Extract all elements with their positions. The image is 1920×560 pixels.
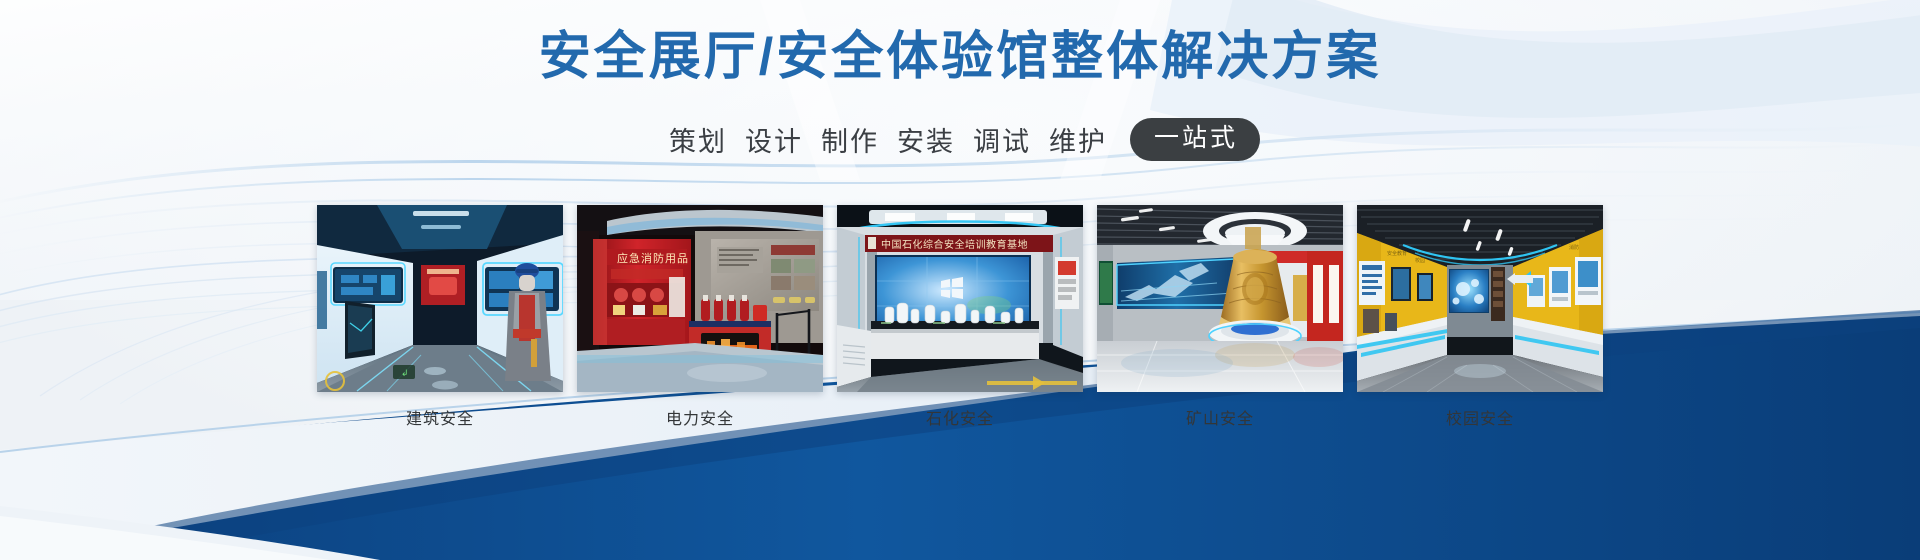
gallery-card-construction[interactable]: ↲ 建筑安全 (317, 205, 563, 429)
red-fire-equipment-image: 应急消防用品 (577, 205, 823, 392)
thumbnail-construction[interactable]: ↲ (317, 205, 563, 392)
subtitle-row: 策划 设计 制作 安装 调试 维护 一站式 (660, 118, 1260, 161)
page-title: 安全展厅/安全体验馆整体解决方案 (539, 26, 1381, 88)
subtitle-word-production: 制作 (812, 120, 888, 159)
one-stop-badge: 一站式 (1130, 118, 1260, 161)
gallery-card-petrochemical[interactable]: 中国石化综合安全培训教育基地 (837, 205, 1083, 429)
blue-corridor-image: ↲ (317, 205, 563, 392)
caption-campus: 校园安全 (1357, 405, 1603, 429)
svg-text:应急消防用品: 应急消防用品 (617, 251, 689, 265)
petrochemical-base-image: 中国石化综合安全培训教育基地 (837, 205, 1083, 392)
thumbnail-campus[interactable]: 安全教育校园 消防 (1357, 205, 1603, 392)
subtitle-word-design: 设计 (736, 120, 812, 159)
subtitle-word-planning: 策划 (660, 120, 736, 159)
gallery-card-campus[interactable]: 安全教育校园 消防 (1357, 205, 1603, 429)
thumbnail-mining[interactable] (1097, 205, 1343, 392)
svg-text:中国石化综合安全培训教育基地: 中国石化综合安全培训教育基地 (881, 238, 1028, 251)
svg-text:安全教育: 安全教育 (1387, 250, 1407, 257)
subtitle-word-debugging: 调试 (964, 120, 1040, 159)
caption-construction: 建筑安全 (317, 405, 563, 429)
banner-root: 安全展厅/安全体验馆整体解决方案 策划 设计 制作 安装 调试 维护 一站式 (0, 0, 1920, 560)
subtitle-word-maintenance: 维护 (1040, 120, 1116, 159)
campus-corridor-image: 安全教育校园 消防 (1357, 205, 1603, 392)
caption-petrochemical: 石化安全 (837, 405, 1083, 429)
headline-container: 安全展厅/安全体验馆整体解决方案 (0, 26, 1920, 88)
svg-text:校园: 校园 (1415, 257, 1425, 264)
subtitle-container: 策划 设计 制作 安装 调试 维护 一站式 (0, 118, 1920, 161)
thumbnail-petrochemical[interactable]: 中国石化综合安全培训教育基地 (837, 205, 1083, 392)
caption-power: 电力安全 (577, 405, 823, 429)
caption-mining: 矿山安全 (1097, 405, 1343, 429)
svg-text:消防: 消防 (1569, 244, 1579, 251)
gallery-card-mining[interactable]: 矿山安全 (1097, 205, 1343, 429)
gallery-row: ↲ 建筑安全 (0, 205, 1920, 429)
thumbnail-power[interactable]: 应急消防用品 (577, 205, 823, 392)
svg-text:↲: ↲ (401, 368, 409, 378)
subtitle-word-installation: 安装 (888, 120, 964, 159)
gallery-card-power[interactable]: 应急消防用品 (577, 205, 823, 429)
mining-hall-bell-image (1097, 205, 1343, 392)
